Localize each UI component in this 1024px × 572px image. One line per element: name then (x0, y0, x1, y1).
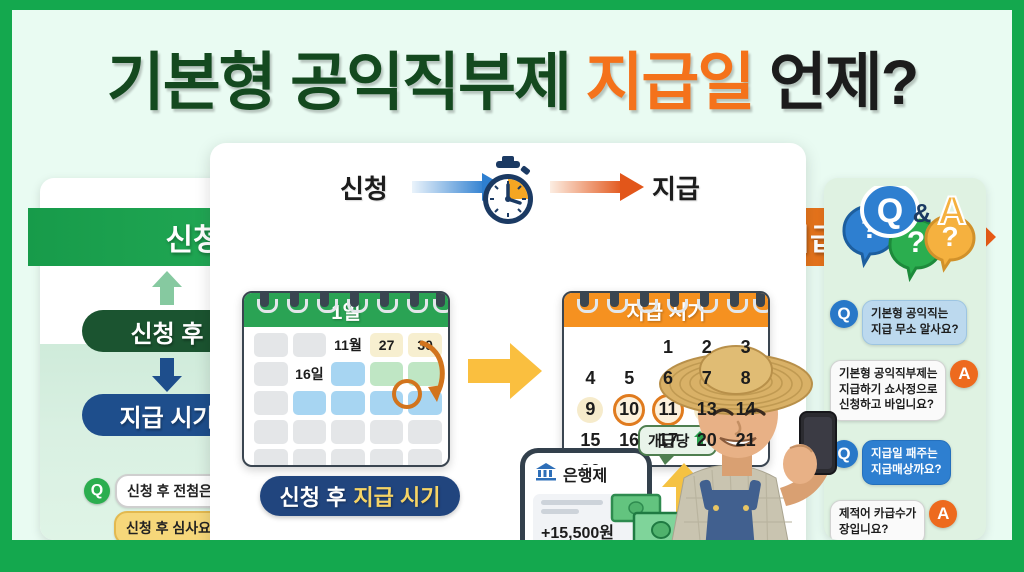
calendar-cell-27: 27 (370, 333, 404, 357)
calendar-cell-16: 16일 (293, 362, 327, 386)
calendar-cell (254, 333, 288, 357)
calendar-day-circled: 10 (611, 395, 648, 424)
a-badge-icon: A (929, 500, 957, 528)
calendar-day (611, 333, 648, 362)
skeleton-line (541, 509, 579, 514)
qna-line: 지급매상까요? (871, 463, 942, 479)
calendar-cell (408, 420, 442, 444)
flow-end-label: 지급 (652, 169, 700, 206)
calendar-day: 4 (572, 364, 609, 393)
pill-after-application-label: 신청 후 (131, 314, 204, 349)
pill-payment-timing-label: 지급 시기 (120, 398, 215, 433)
transition-arrow-icon (466, 339, 544, 408)
calendar-cell (293, 420, 327, 444)
calendar-cell (293, 333, 327, 357)
calendar-cell (331, 420, 365, 444)
curved-arrow-icon (416, 337, 450, 416)
skeleton-line (541, 500, 603, 505)
qna-line: 지급 무소 알사요? (871, 323, 958, 339)
title-part-2-highlight: 지급일 (585, 48, 753, 118)
bottom-pill-white-text: 신청 후 (280, 480, 347, 512)
calendar-rings (244, 291, 450, 305)
svg-text:&: & (913, 198, 932, 228)
calendar-day-highlight: 9 (572, 395, 609, 424)
a-badge-icon: A (950, 360, 978, 388)
qna-logo: ? ? ? Q & A (834, 186, 976, 303)
calendar-cell (408, 449, 442, 467)
calendar-day: 5 (611, 364, 648, 393)
qna-line: 기본형 공익직는 (871, 307, 958, 323)
poster-canvas: 기본형 공익직부제 지급일 언제? 신청 신청 후 지급 시기 (12, 10, 1012, 562)
q-badge-icon: Q (830, 300, 858, 328)
calendar-cell (254, 449, 288, 467)
calendar-cell (370, 420, 404, 444)
calendar-day (572, 333, 609, 362)
svg-text:A: A (938, 189, 967, 233)
calendar-cell-month: 11월 (331, 333, 365, 357)
q-badge-icon: Q (84, 478, 110, 504)
title-part-3: 언제? (769, 48, 917, 118)
calendar-cell (254, 420, 288, 444)
qna-bubble-1: 기본형 공익직는 지급 무소 알사요? (862, 300, 967, 345)
title-part-1: 기본형 공익직부제 (107, 48, 570, 118)
bottom-summary-pill: 신청 후 지급 시기 (260, 476, 460, 516)
svg-text:Q: Q (877, 192, 903, 230)
poster-frame: 기본형 공익직부제 지급일 언제? 신청 신청 후 지급 시기 (0, 0, 1024, 572)
bottom-accent-strip (12, 540, 1012, 562)
qna-bubble-3: 지급일 패주는 지급매상까요? (862, 440, 951, 485)
calendar-cell (331, 362, 365, 386)
qna-line: 지급일 패주는 (871, 447, 942, 463)
calendar-cell (293, 391, 327, 415)
calendar-cell (331, 449, 365, 467)
phone-header: 은행제 (525, 453, 647, 486)
bank-icon (535, 462, 557, 486)
calendar-cell (370, 449, 404, 467)
bank-label: 은행제 (563, 462, 607, 486)
calendar-rings (564, 291, 770, 305)
calendar-cell (254, 362, 288, 386)
flow-start-label: 신청 (340, 169, 388, 206)
calendar-application: 1일 11월 27 30 16일 (242, 291, 450, 467)
flow-diagram: 신청 (210, 157, 806, 211)
stopwatch-icon (474, 155, 542, 232)
calendar-cell (293, 449, 327, 467)
page-title: 기본형 공익직부제 지급일 언제? (12, 32, 1012, 123)
bottom-pill-yellow-text: 지급 시기 (353, 480, 440, 512)
calendar-cell (331, 391, 365, 415)
calendar-cell (254, 391, 288, 415)
